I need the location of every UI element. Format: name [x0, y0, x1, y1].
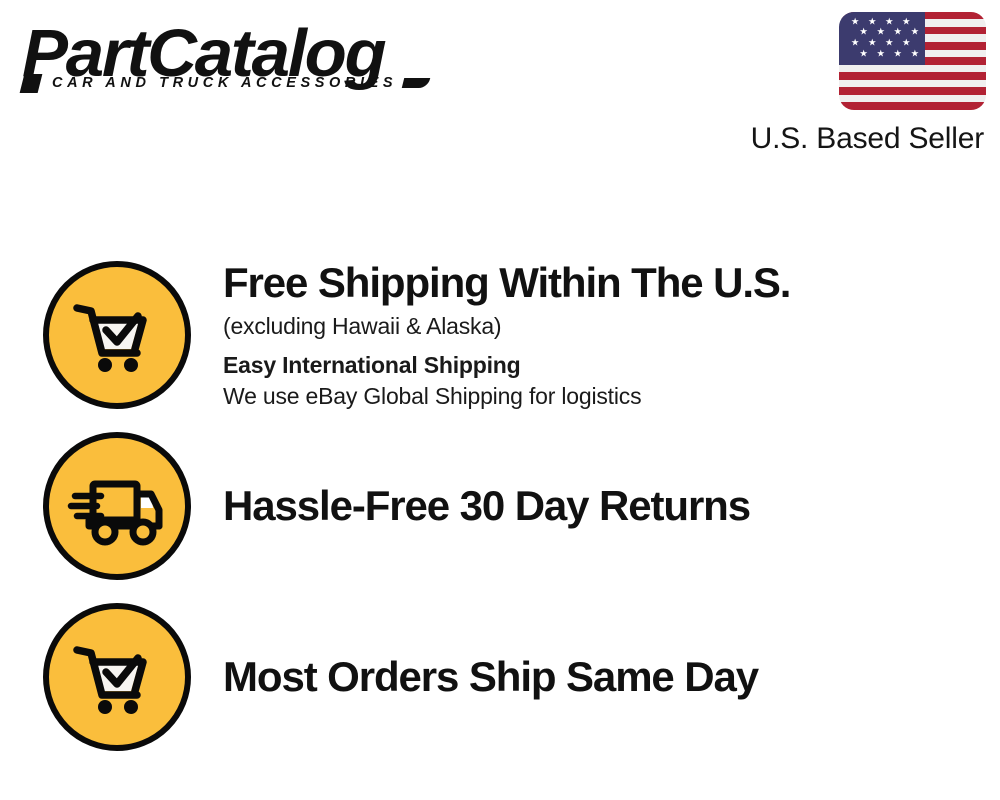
benefit-title: Most Orders Ship Same Day	[223, 652, 980, 702]
delivery-truck-icon	[43, 432, 191, 580]
benefit-row: Free Shipping Within The U.S. (excluding…	[0, 249, 1000, 420]
seller-badge: ★ ★ ★ ★ ★ ★ ★ ★ ★ ★ ★ ★ ★ ★ ★ ★ U.S. Bas…	[718, 12, 986, 156]
tagline-left-slash-icon	[20, 74, 43, 93]
benefit-title: Hassle-Free 30 Day Returns	[223, 481, 980, 531]
tagline-right-swoosh-icon	[402, 78, 430, 88]
benefit-subtext: (excluding Hawaii & Alaska)	[223, 310, 980, 342]
page-header: PartCatalog CAR AND TRUCK ACCESSORIES ★ …	[0, 0, 1000, 170]
benefit-text: Hassle-Free 30 Day Returns	[223, 481, 1000, 531]
brand-tagline-row: CAR AND TRUCK ACCESSORIES	[22, 70, 482, 96]
benefit-subdetail: We use eBay Global Shipping for logistic…	[223, 380, 980, 412]
benefit-row: Most Orders Ship Same Day	[0, 591, 1000, 762]
brand-tagline: CAR AND TRUCK ACCESSORIES	[52, 75, 397, 91]
shopping-cart-check-icon	[43, 261, 191, 409]
benefit-text: Most Orders Ship Same Day	[223, 652, 1000, 702]
benefit-row: Hassle-Free 30 Day Returns	[0, 420, 1000, 591]
benefit-subheading: Easy International Shipping	[223, 350, 980, 380]
seller-label: U.S. Based Seller	[718, 122, 984, 156]
shopping-cart-check-icon	[43, 603, 191, 751]
benefit-text: Free Shipping Within The U.S. (excluding…	[223, 258, 1000, 412]
benefits-list: Free Shipping Within The U.S. (excluding…	[0, 170, 1000, 770]
benefit-title: Free Shipping Within The U.S.	[223, 258, 980, 308]
brand-logo[interactable]: PartCatalog	[22, 18, 492, 114]
us-flag-icon: ★ ★ ★ ★ ★ ★ ★ ★ ★ ★ ★ ★ ★ ★ ★ ★	[839, 12, 986, 110]
